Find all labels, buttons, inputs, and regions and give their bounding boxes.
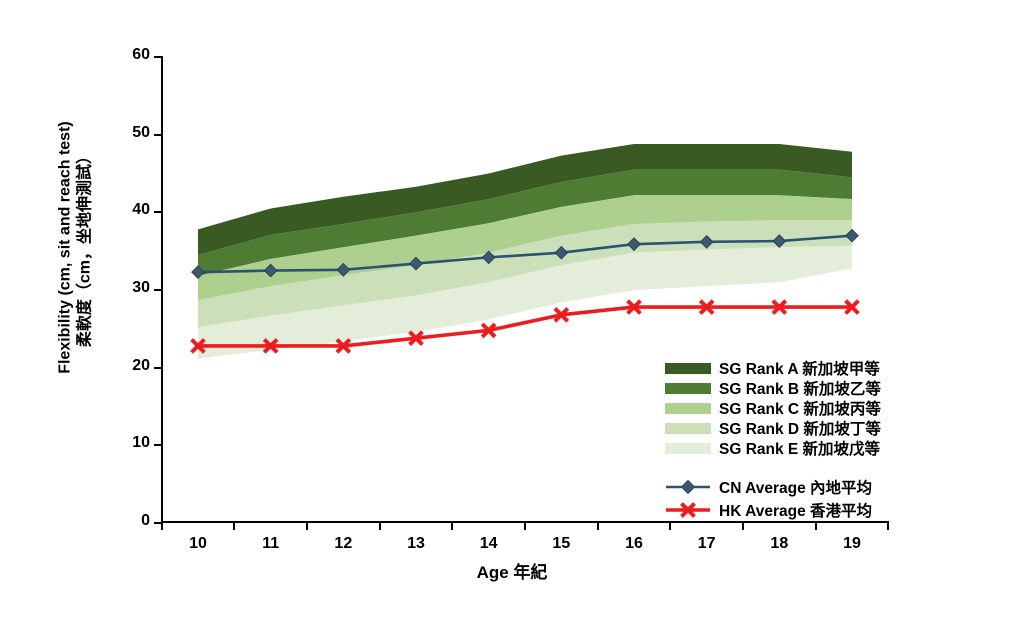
- y-axis-tick-label: 20: [110, 357, 150, 375]
- x-axis-tick-label: 19: [822, 535, 882, 553]
- legend-item-line: CN Average 內地平均: [665, 475, 881, 498]
- x-axis-tick-label: 10: [168, 535, 228, 553]
- legend-cross-icon: [665, 501, 711, 519]
- legend-label: SG Rank C 新加坡丙等: [719, 397, 881, 419]
- legend-bands-group: SG Rank A 新加坡甲等SG Rank B 新加坡乙等SG Rank C …: [665, 358, 881, 458]
- legend-label: SG Rank B 新加坡乙等: [719, 377, 881, 399]
- y-axis-title-en: Flexibility (cm, sit and reach test): [56, 121, 73, 374]
- y-axis-tick-label: 0: [110, 512, 150, 530]
- legend-item-line: HK Average 香港平均: [665, 498, 881, 521]
- legend-label: CN Average 內地平均: [719, 476, 872, 498]
- x-axis-tick-label: 18: [749, 535, 809, 553]
- legend-item-band: SG Rank B 新加坡乙等: [665, 378, 881, 398]
- legend-label: HK Average 香港平均: [719, 499, 872, 521]
- x-axis-tick-label: 15: [531, 535, 591, 553]
- x-axis-tick-label: 16: [604, 535, 664, 553]
- legend-swatch-icon: [665, 403, 711, 414]
- flexibility-chart: Flexibility (cm, sit and reach test) 柔軟度…: [0, 0, 1021, 623]
- legend-item-band: SG Rank C 新加坡丙等: [665, 398, 881, 418]
- x-axis-tick-label: 14: [459, 535, 519, 553]
- x-axis-tick-label: 17: [677, 535, 737, 553]
- y-axis-title-zh: 柔軟度（cm，坐地伸測試）: [76, 148, 93, 347]
- y-axis-tick-label: 30: [110, 279, 150, 297]
- legend-swatch-icon: [665, 363, 711, 374]
- y-axis-tick-label: 50: [110, 124, 150, 142]
- x-axis-title: Age 年紀: [162, 558, 862, 583]
- legend-item-band: SG Rank E 新加坡戊等: [665, 438, 881, 458]
- legend-label: SG Rank D 新加坡丁等: [719, 417, 881, 439]
- chart-legend: SG Rank A 新加坡甲等SG Rank B 新加坡乙等SG Rank C …: [665, 358, 881, 521]
- legend-swatch-icon: [665, 443, 711, 454]
- legend-lines-group: CN Average 內地平均HK Average 香港平均: [665, 475, 881, 521]
- legend-diamond-icon: [665, 478, 711, 496]
- x-axis-tick-label: 11: [241, 535, 301, 553]
- y-axis-tick-label: 10: [110, 434, 150, 452]
- legend-item-band: SG Rank D 新加坡丁等: [665, 418, 881, 438]
- y-axis-tick-label: 40: [110, 201, 150, 219]
- y-axis-tick-label: 60: [110, 46, 150, 64]
- legend-swatch-icon: [665, 423, 711, 434]
- legend-item-band: SG Rank A 新加坡甲等: [665, 358, 881, 378]
- x-axis-tick-label: 13: [386, 535, 446, 553]
- x-axis-tick-label: 12: [313, 535, 373, 553]
- legend-label: SG Rank A 新加坡甲等: [719, 357, 880, 379]
- legend-swatch-icon: [665, 383, 711, 394]
- y-axis-title: Flexibility (cm, sit and reach test) 柔軟度…: [55, 18, 94, 478]
- legend-label: SG Rank E 新加坡戊等: [719, 437, 880, 459]
